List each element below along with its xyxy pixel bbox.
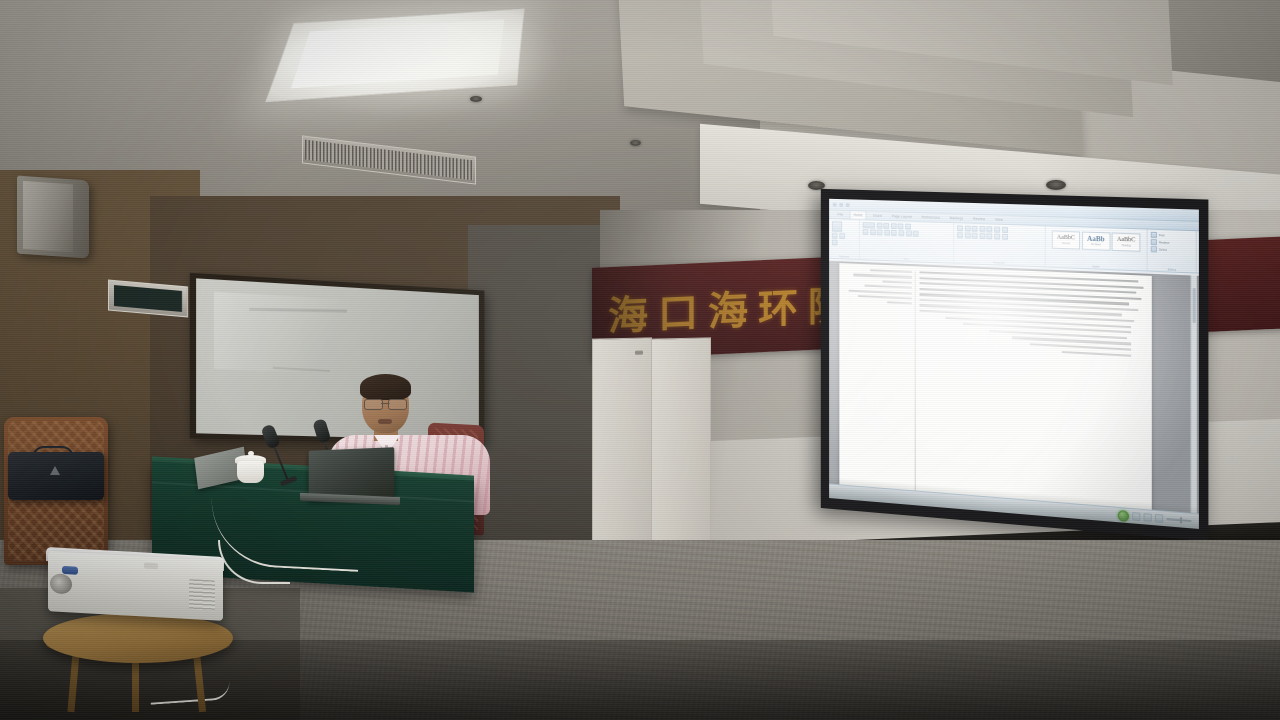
- conference-room-photo: 海 口 海 环 院 环 境: [0, 0, 1280, 720]
- wall-cabinet-door-right: [651, 337, 711, 548]
- wall-vent-slot: [114, 285, 182, 312]
- whiteboard-smudge: [273, 366, 331, 371]
- glasses-icon: [364, 399, 407, 408]
- recessed-downlight-icon: [630, 140, 641, 146]
- glasses-lens-right: [388, 399, 407, 410]
- projector-focus-knob[interactable]: [62, 566, 78, 575]
- wooden-stool: [43, 613, 233, 663]
- projector-vent-icon: [189, 579, 215, 610]
- teacup-knob: [248, 451, 254, 456]
- laptop-bag: [8, 452, 104, 500]
- recessed-downlight-icon: [470, 96, 482, 102]
- presenter-mouth: [378, 419, 392, 424]
- presenter-hair: [360, 374, 411, 400]
- presenter-laptop[interactable]: [309, 447, 395, 500]
- recessed-downlight-icon: [1046, 180, 1066, 190]
- projector[interactable]: [48, 551, 223, 621]
- stool-leg: [132, 660, 139, 712]
- screen-glare: [829, 199, 1199, 529]
- cabinet-handle-icon: [635, 351, 643, 355]
- projection-screen-surface: File Home Insert Page Layout References …: [829, 199, 1199, 529]
- bag-logo-icon: [50, 466, 60, 475]
- glasses-lens-left: [364, 399, 383, 410]
- wall-cabinet-door-left: [592, 337, 652, 548]
- projector-power-button[interactable]: [144, 562, 158, 569]
- teacup: [237, 461, 264, 483]
- whiteboard-smudge: [250, 308, 348, 313]
- projector-lens-icon: [50, 573, 72, 594]
- wall-speaker-icon: [17, 175, 89, 258]
- projection-screen: File Home Insert Page Layout References …: [821, 189, 1209, 541]
